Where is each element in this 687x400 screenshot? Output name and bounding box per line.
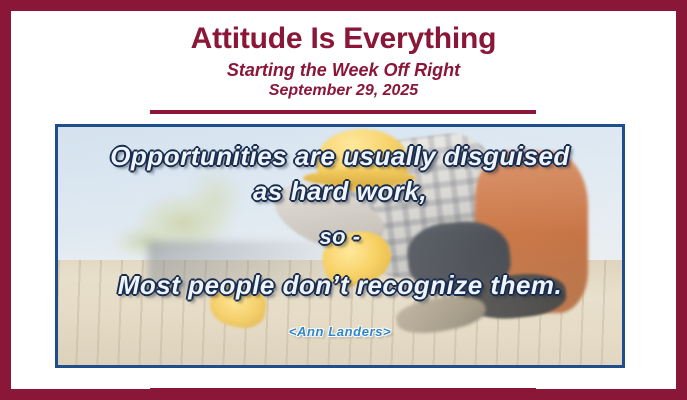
quote-attribution: <Ann Landers> bbox=[58, 298, 622, 339]
subtitle: Starting the Week Off Right bbox=[11, 55, 676, 80]
page-title: Attitude Is Everything bbox=[11, 11, 676, 55]
slide-content-area: Attitude Is Everything Starting the Week… bbox=[11, 11, 676, 389]
divider-bottom bbox=[150, 388, 536, 389]
quote-image-card: Opportunities are usually disguised as h… bbox=[55, 124, 625, 368]
quote-line-2: as hard work, bbox=[58, 169, 622, 204]
slide-page: Attitude Is Everything Starting the Week… bbox=[0, 0, 687, 400]
divider-top bbox=[150, 110, 536, 114]
quote-line-3: so - bbox=[58, 204, 622, 248]
quote-text-block: Opportunities are usually disguised as h… bbox=[58, 127, 622, 365]
quote-line-1: Opportunities are usually disguised bbox=[58, 127, 622, 169]
date-label: September 29, 2025 bbox=[11, 80, 676, 100]
quote-line-4: Most people don’t recognize them. bbox=[58, 248, 622, 298]
header-block: Attitude Is Everything Starting the Week… bbox=[11, 11, 676, 100]
